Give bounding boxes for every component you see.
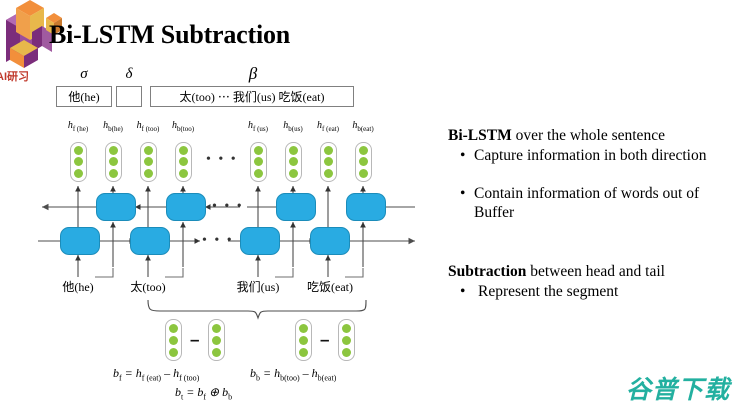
hidden-state-stack <box>175 142 192 182</box>
hidden-label-b-he: hb(he) <box>93 120 133 133</box>
lstm-cell-forward <box>310 227 350 255</box>
notes-bullet-capture: • Capture information in both direction <box>460 146 734 165</box>
hidden-state-stack <box>250 142 267 182</box>
states-ellipsis: • • • <box>206 152 238 168</box>
word-label-eat: 吃饭(eat) <box>296 278 364 295</box>
subtraction-stack-backward-a <box>295 319 312 361</box>
notes-heading-bilstm: Bi-LSTM over the whole sentence <box>448 126 734 145</box>
notes-heading-bilstm-rest: over the whole sentence <box>512 127 665 144</box>
state-node <box>179 169 188 178</box>
formula-forward: bf = hf (eat) – hf (too) <box>113 366 199 382</box>
hidden-state-stack <box>320 142 337 182</box>
notes-heading-subtraction: Subtraction between head and tail <box>448 262 734 281</box>
notes-bullet-contain-text: Contain information of words out of Buff… <box>474 184 734 222</box>
bullet-icon: • <box>460 184 465 203</box>
notes-heading-bilstm-bold: Bi-LSTM <box>448 127 512 144</box>
state-node <box>359 146 368 155</box>
notes-heading-subtraction-bold: Subtraction <box>448 263 526 280</box>
state-node <box>342 324 351 333</box>
logo-caption: AI研习 <box>0 68 60 84</box>
beta-symbol-label: β <box>152 64 354 84</box>
state-node <box>212 324 221 333</box>
state-node <box>324 146 333 155</box>
notes-heading-subtraction-rest: between head and tail <box>526 263 665 280</box>
state-node <box>324 157 333 166</box>
hidden-state-stack <box>140 142 157 182</box>
subtraction-stack-forward-a <box>165 319 182 361</box>
bullet-icon: • <box>460 282 465 301</box>
slide-canvas: AI研习 Bi-LSTM Subtraction σ δ β 他(he) 太(t… <box>0 0 740 414</box>
state-node <box>74 169 83 178</box>
state-node <box>144 157 153 166</box>
word-label-us: 我们(us) <box>224 278 292 295</box>
state-node <box>74 157 83 166</box>
formula-backward: bb = hb(too) – hb(eat) <box>250 366 336 382</box>
state-node <box>109 157 118 166</box>
lstm-cell-backward <box>166 193 206 221</box>
notes-bullet-contain: • Contain information of words out of Bu… <box>460 184 734 222</box>
watermark: 谷普下载 <box>626 370 730 406</box>
lstm-cell-forward <box>130 227 170 255</box>
state-node <box>212 348 221 357</box>
state-node <box>299 324 308 333</box>
notes-bullet-represent-text: Represent the segment <box>478 282 734 301</box>
state-node <box>169 348 178 357</box>
hidden-state-stack <box>70 142 87 182</box>
page-title: Bi-LSTM Subtraction <box>49 20 290 50</box>
state-node <box>254 157 263 166</box>
hidden-label-f-he: hf (he) <box>58 120 98 133</box>
lstm-cell-backward <box>96 193 136 221</box>
backward-row-ellipsis: • • • <box>212 199 244 215</box>
hidden-label-b-too: hb(too) <box>163 120 203 133</box>
lstm-cell-backward <box>346 193 386 221</box>
hidden-label-f-too: hf (too) <box>128 120 168 133</box>
notes-bullet-represent: • Represent the segment <box>460 282 734 301</box>
state-node <box>342 348 351 357</box>
hidden-state-stack <box>105 142 122 182</box>
state-node <box>299 336 308 345</box>
state-node <box>254 146 263 155</box>
state-node <box>74 146 83 155</box>
state-node <box>299 348 308 357</box>
state-node <box>109 146 118 155</box>
state-node <box>144 169 153 178</box>
state-node <box>179 146 188 155</box>
state-node <box>359 169 368 178</box>
hidden-label-b-eat: hb(eat) <box>343 120 383 133</box>
minus-sign-backward: – <box>320 330 329 350</box>
state-node <box>342 336 351 345</box>
delta-symbol-label: δ <box>112 66 146 83</box>
state-node <box>289 146 298 155</box>
lstm-cell-backward <box>276 193 316 221</box>
beta-box: 太(too) ⋯ 我们(us) 吃饭(eat) <box>150 86 354 107</box>
formula-total: bt = bf ⊕ bb <box>175 385 232 401</box>
lstm-cell-forward <box>240 227 280 255</box>
hidden-label-f-us: hf (us) <box>238 120 278 133</box>
word-label-too: 太(too) <box>118 278 178 295</box>
bullet-icon: • <box>460 146 465 165</box>
state-node <box>169 324 178 333</box>
state-node <box>359 157 368 166</box>
subtraction-stack-backward-b <box>338 319 355 361</box>
state-node <box>169 336 178 345</box>
state-node <box>254 169 263 178</box>
state-node <box>289 169 298 178</box>
hidden-state-stack <box>355 142 372 182</box>
hidden-label-f-eat: hf (eat) <box>308 120 348 133</box>
segment-brace <box>148 300 366 318</box>
lstm-cell-forward <box>60 227 100 255</box>
state-node <box>324 169 333 178</box>
forward-row-ellipsis: • • • <box>202 233 234 249</box>
minus-sign-forward: – <box>190 330 199 350</box>
state-node <box>289 157 298 166</box>
hidden-state-stack <box>285 142 302 182</box>
state-node <box>109 169 118 178</box>
sigma-box: 他(he) <box>56 86 112 107</box>
word-label-he: 他(he) <box>48 278 108 295</box>
subtraction-stack-forward-b <box>208 319 225 361</box>
state-node <box>212 336 221 345</box>
notes-bullet-capture-text: Capture information in both direction <box>474 146 734 165</box>
hidden-label-b-us: hb(us) <box>273 120 313 133</box>
state-node <box>179 157 188 166</box>
sigma-symbol-label: σ <box>56 66 112 83</box>
state-node <box>144 146 153 155</box>
delta-box <box>116 86 142 107</box>
